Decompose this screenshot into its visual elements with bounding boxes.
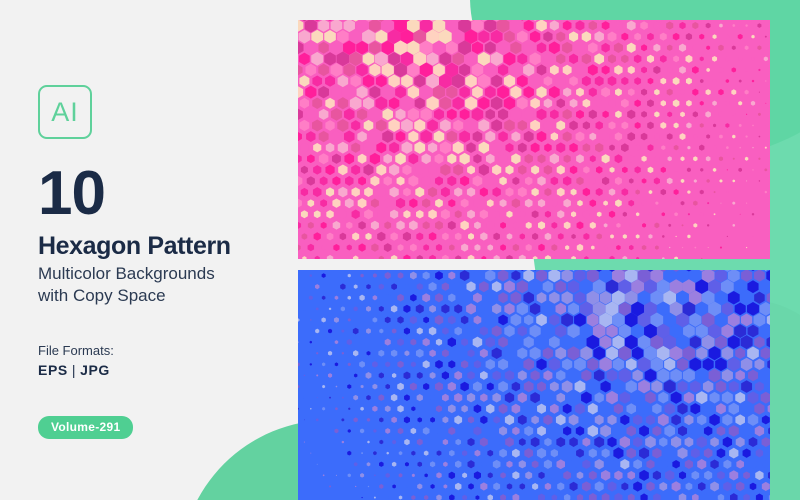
- ai-file-badge: AI: [38, 85, 92, 139]
- info-column: AI 10 Hexagon Pattern Multicolor Backgro…: [38, 0, 298, 500]
- pink-hexagon-pattern: [298, 20, 770, 259]
- page-subtitle: Multicolor Backgrounds with Copy Space: [38, 263, 288, 307]
- page-subtitle-line-1: Multicolor Backgrounds: [38, 263, 288, 285]
- file-format-eps: EPS: [38, 362, 68, 378]
- blue-hexagon-preview[interactable]: [298, 270, 770, 500]
- volume-badge: Volume-291: [38, 416, 133, 439]
- ai-file-badge-label: AI: [51, 99, 79, 126]
- blue-hexagon-pattern: [298, 270, 770, 500]
- page-subtitle-line-2: with Copy Space: [38, 285, 288, 307]
- poster-canvas: AI 10 Hexagon Pattern Multicolor Backgro…: [0, 0, 800, 500]
- file-formats-value: EPS|JPG: [38, 362, 110, 378]
- file-format-jpg: JPG: [80, 362, 110, 378]
- file-formats-label: File Formats:: [38, 343, 114, 358]
- file-format-separator: |: [68, 362, 80, 378]
- pink-hexagon-preview[interactable]: [298, 20, 770, 259]
- item-count: 10: [38, 163, 105, 225]
- page-title: Hexagon Pattern: [38, 232, 231, 260]
